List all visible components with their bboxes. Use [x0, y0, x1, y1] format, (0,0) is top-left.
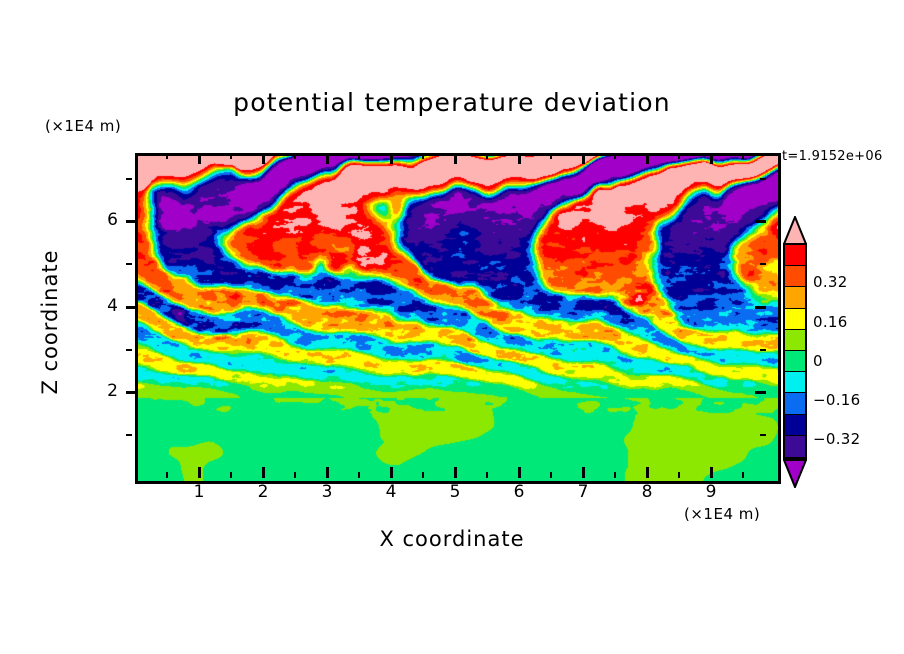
colorbar-tick-label: −0.32 — [813, 430, 860, 448]
colorbar-band — [785, 330, 805, 351]
x-tick-label: 6 — [504, 482, 534, 502]
x-tick-minor — [422, 472, 424, 478]
y-tick-major — [755, 220, 766, 223]
x-tick-minor — [614, 472, 616, 478]
x-tick-major — [518, 467, 521, 478]
x-tick-label: 1 — [184, 482, 214, 502]
y-tick-minor — [126, 434, 132, 436]
colorbar-tick-label: 0.32 — [813, 273, 848, 291]
x-tick-major — [262, 153, 265, 164]
y-tick-minor — [126, 349, 132, 351]
x-tick-minor — [422, 153, 424, 159]
y-tick-major — [755, 391, 766, 394]
page-title: potential temperature deviation — [0, 88, 904, 117]
y-tick-minor — [126, 178, 132, 180]
x-tick-minor — [294, 472, 296, 478]
x-tick-minor — [166, 472, 168, 478]
colorbar: 0.320.160−0.16−0.32 — [783, 216, 807, 487]
x-tick-minor — [230, 153, 232, 159]
x-tick-minor — [742, 472, 744, 478]
y-tick-minor — [126, 263, 132, 265]
x-tick-major — [710, 467, 713, 478]
x-tick-major — [582, 153, 585, 164]
x-tick-label: 3 — [312, 482, 342, 502]
y-tick-major — [755, 306, 766, 309]
colorbar-band — [785, 287, 805, 308]
y-axis-title: Z coordinate — [38, 212, 62, 432]
x-tick-major — [326, 467, 329, 478]
y-tick-minor — [760, 349, 766, 351]
x-axis-unit-label: (×1E4 m) — [684, 505, 760, 523]
x-tick-major — [390, 153, 393, 164]
x-tick-minor — [230, 472, 232, 478]
x-tick-major — [390, 467, 393, 478]
x-tick-major — [262, 467, 265, 478]
y-tick-major — [126, 220, 137, 223]
colorbar-band — [785, 415, 805, 436]
colorbar-cap-top — [783, 216, 807, 245]
y-tick-label: 6 — [86, 210, 118, 230]
colorbar-band — [785, 351, 805, 372]
y-tick-minor — [760, 263, 766, 265]
x-tick-major — [518, 153, 521, 164]
x-tick-minor — [486, 472, 488, 478]
colorbar-band — [785, 436, 805, 457]
colorbar-band — [785, 245, 805, 266]
x-tick-label: 7 — [568, 482, 598, 502]
x-tick-minor — [166, 153, 168, 159]
x-tick-minor — [358, 472, 360, 478]
x-tick-minor — [294, 153, 296, 159]
x-tick-label: 8 — [632, 482, 662, 502]
colorbar-band — [785, 372, 805, 393]
x-tick-label: 9 — [696, 482, 726, 502]
x-tick-major — [710, 153, 713, 164]
y-tick-minor — [760, 178, 766, 180]
x-tick-minor — [742, 153, 744, 159]
y-tick-major — [126, 391, 137, 394]
colorbar-band — [785, 309, 805, 330]
x-tick-major — [198, 153, 201, 164]
x-tick-minor — [358, 153, 360, 159]
colorbar-band — [785, 266, 805, 287]
z-axis-unit-label: (×1E4 m) — [45, 117, 121, 135]
colorbar-tick-label: 0 — [813, 352, 823, 370]
x-tick-major — [198, 467, 201, 478]
x-axis-title: X coordinate — [0, 527, 904, 551]
x-tick-major — [454, 467, 457, 478]
x-tick-minor — [678, 153, 680, 159]
x-tick-major — [454, 153, 457, 164]
x-tick-major — [646, 467, 649, 478]
contour-plot-area — [135, 153, 781, 484]
figure-canvas: potential temperature deviation (×1E4 m)… — [0, 0, 904, 654]
x-tick-minor — [614, 153, 616, 159]
colorbar-bands — [783, 243, 807, 459]
colorbar-band — [785, 393, 805, 414]
y-tick-label: 4 — [86, 296, 118, 316]
y-tick-label: 2 — [86, 381, 118, 401]
time-stamp-label: t=1.9152e+06 — [782, 149, 883, 164]
x-tick-major — [582, 467, 585, 478]
x-tick-minor — [678, 472, 680, 478]
colorbar-tick-label: 0.16 — [813, 313, 848, 331]
y-axis-ticks: 246 — [86, 153, 126, 478]
colorbar-tick-label: −0.16 — [813, 391, 860, 409]
x-tick-label: 4 — [376, 482, 406, 502]
y-tick-major — [126, 306, 137, 309]
x-tick-minor — [486, 153, 488, 159]
x-tick-minor — [550, 472, 552, 478]
x-tick-label: 2 — [248, 482, 278, 502]
x-tick-major — [326, 153, 329, 164]
x-tick-label: 5 — [440, 482, 470, 502]
y-tick-minor — [760, 434, 766, 436]
contour-field — [138, 156, 778, 481]
x-tick-major — [646, 153, 649, 164]
x-tick-minor — [550, 153, 552, 159]
colorbar-cap-bottom — [783, 459, 807, 488]
